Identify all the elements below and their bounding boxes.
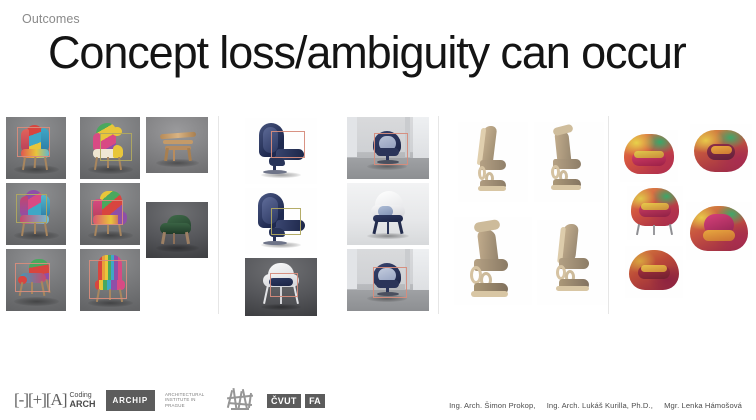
ribbon-chair-1[interactable]	[458, 122, 528, 202]
patchwork-wing-chair-2[interactable]	[6, 183, 66, 245]
blue-swivel-chair-2[interactable]	[245, 188, 317, 254]
slide-root: Outcomes Concept loss/ambiguity can occu…	[0, 0, 756, 420]
annotation-bbox	[89, 260, 127, 299]
ribbon-chair-4[interactable]	[537, 220, 607, 305]
blue-tub-chair-interior-1[interactable]	[347, 117, 429, 179]
slide-eyebrow: Outcomes	[22, 12, 80, 26]
annotation-bbox	[91, 200, 123, 225]
logo-architectural-institute[interactable]: ARCHITECTURAL INSTITUTE IN PRAGUE	[165, 392, 213, 408]
annotation-bbox	[270, 273, 298, 297]
ribbon-chair-3[interactable]	[454, 217, 532, 305]
blue-tub-chair-interior-3[interactable]	[347, 249, 429, 311]
logo-coding-arch[interactable]: [-][+][A] Coding ARCH	[14, 390, 96, 410]
page-title: Concept loss/ambiguity can occur	[48, 26, 686, 80]
logo-cvut-fa[interactable]: ČVUT FA	[267, 392, 325, 408]
gradient-tub-chair-2[interactable]	[690, 124, 752, 180]
gradient-tub-chair-5[interactable]	[625, 246, 683, 298]
footer-credits: Ing. Arch. Šimon Prokop, Ing. Arch. Luká…	[449, 401, 742, 410]
logo-fa-text: FA	[305, 394, 325, 408]
coding-arch-line2: ARCH	[70, 400, 96, 409]
annotation-bbox	[373, 267, 407, 298]
blue-swivel-chair-1[interactable]	[245, 118, 317, 184]
logo-archip[interactable]: ARCHIP	[106, 390, 155, 411]
annotation-bbox	[374, 133, 408, 165]
credit-author-3: Mgr. Lenka Hámošová	[664, 401, 742, 410]
patchwork-wing-chair-4[interactable]	[80, 117, 140, 179]
green-velvet-armchair[interactable]	[146, 202, 208, 258]
credit-author-2: Ing. Arch. Lukáš Kurilla, Ph.D.,	[547, 401, 653, 410]
gradient-tub-chair-3[interactable]	[627, 186, 683, 240]
annotation-bbox	[16, 194, 47, 223]
ribbon-chair-2[interactable]	[534, 122, 604, 202]
annotation-bbox	[271, 208, 301, 235]
patchwork-wing-chair-5[interactable]	[80, 183, 140, 245]
image-gallery	[0, 112, 756, 317]
coding-arch-bracket-icon: [-][+][A]	[14, 390, 67, 410]
footer-logos: [-][+][A] Coding ARCH ARCHIP ARCHITECTUR…	[14, 387, 325, 413]
wooden-lounge-chair[interactable]	[146, 117, 208, 173]
credit-author-1: Ing. Arch. Šimon Prokop,	[449, 401, 535, 410]
patchwork-stripe-chair-6[interactable]	[80, 249, 140, 311]
annotation-bbox	[17, 127, 50, 157]
group-divider-3	[608, 116, 609, 314]
annotation-bbox	[15, 263, 50, 292]
slide-footer: [-][+][A] Coding ARCH ARCHIP ARCHITECTUR…	[0, 374, 756, 420]
patchwork-wing-chair-3[interactable]	[6, 249, 66, 311]
gradient-tub-chair-4[interactable]	[686, 202, 752, 260]
white-blue-wingback-2[interactable]	[347, 183, 429, 245]
annotation-bbox	[100, 133, 132, 161]
university-seal-icon	[223, 387, 257, 413]
annotation-bbox	[271, 131, 305, 158]
gradient-tub-chair-1[interactable]	[620, 130, 678, 182]
patchwork-wing-chair-1[interactable]	[6, 117, 66, 179]
group-divider-1	[218, 116, 219, 314]
logo-cvut-text: ČVUT	[267, 394, 301, 408]
white-blue-armchair-3[interactable]	[245, 258, 317, 316]
group-divider-2	[438, 116, 439, 314]
